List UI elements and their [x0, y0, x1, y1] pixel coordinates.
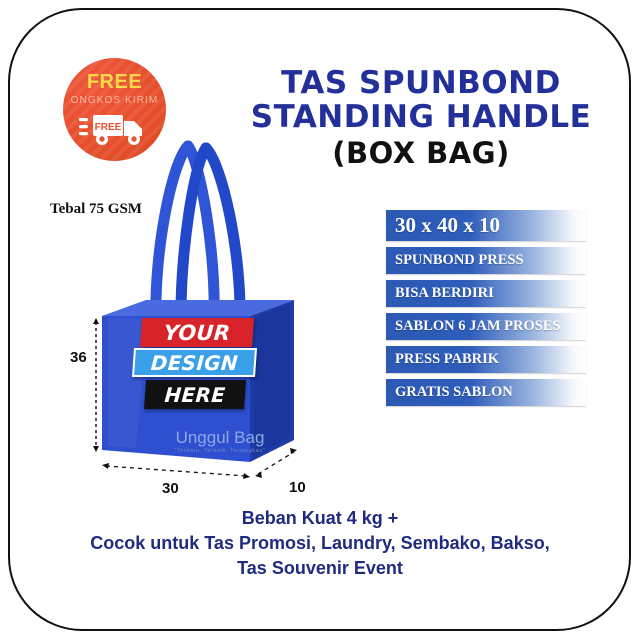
feature-list: 30 x 40 x 10 SPUNBOND PRESS BISA BERDIRI…	[386, 210, 586, 412]
your-design-here-sticker: YOUR DESIGN HERE	[133, 318, 256, 414]
feature-label: GRATIS SABLON	[386, 384, 513, 401]
caption-line-3: Tas Souvenir Event	[40, 556, 600, 581]
feature-bar-material: SPUNBOND PRESS	[386, 247, 586, 274]
bottom-caption: Beban Kuat 4 kg + Cocok untuk Tas Promos…	[40, 506, 600, 581]
thickness-label: Tebal 75 GSM	[50, 201, 142, 218]
feature-label: BISA BERDIRI	[386, 285, 494, 302]
feature-label: PRESS PABRIK	[386, 351, 499, 368]
sticker-text-here: HERE	[164, 383, 226, 407]
sticker-band-your: YOUR	[140, 318, 254, 347]
headline-line-1: TAS SPUNBOND	[248, 66, 594, 100]
depth-dimension-label: 10	[289, 479, 306, 496]
feature-label: 30 x 40 x 10	[386, 213, 500, 238]
sticker-text-design: DESIGN	[150, 351, 239, 375]
badge-free-label: FREE	[63, 71, 166, 94]
feature-bar-printing-time: SABLON 6 JAM PROSES	[386, 313, 586, 340]
feature-label: SABLON 6 JAM PROSES	[386, 318, 561, 335]
headline-line-2: STANDING HANDLE	[248, 100, 594, 134]
watermark-brand: Unggul Bag	[160, 428, 280, 448]
sticker-band-here: HERE	[144, 380, 246, 409]
caption-line-1: Beban Kuat 4 kg +	[40, 506, 600, 531]
product-ad-card: FREE ONGKOS KIRIM FREE TAS SPUNBOND STAN…	[0, 0, 639, 639]
width-dimension-label: 30	[162, 480, 179, 497]
brand-watermark: Unggul Bag "Terbaru, Terbaik, Terjangkau…	[160, 428, 280, 454]
watermark-tagline: "Terbaru, Terbaik, Terjangkau"	[160, 448, 280, 454]
svg-text:FREE: FREE	[95, 122, 122, 133]
feature-bar-factory-press: PRESS PABRIK	[386, 346, 586, 373]
height-dimension-label: 36	[70, 349, 87, 366]
sticker-text-your: YOUR	[163, 321, 231, 345]
badge-subtitle: ONGKOS KIRIM	[63, 95, 166, 106]
caption-line-2: Cocok untuk Tas Promosi, Laundry, Sembak…	[40, 531, 600, 556]
feature-bar-free-printing: GRATIS SABLON	[386, 379, 586, 406]
sticker-band-design: DESIGN	[132, 348, 257, 377]
feature-bar-standing: BISA BERDIRI	[386, 280, 586, 307]
feature-label: SPUNBOND PRESS	[386, 252, 524, 269]
feature-bar-size: 30 x 40 x 10	[386, 210, 586, 241]
